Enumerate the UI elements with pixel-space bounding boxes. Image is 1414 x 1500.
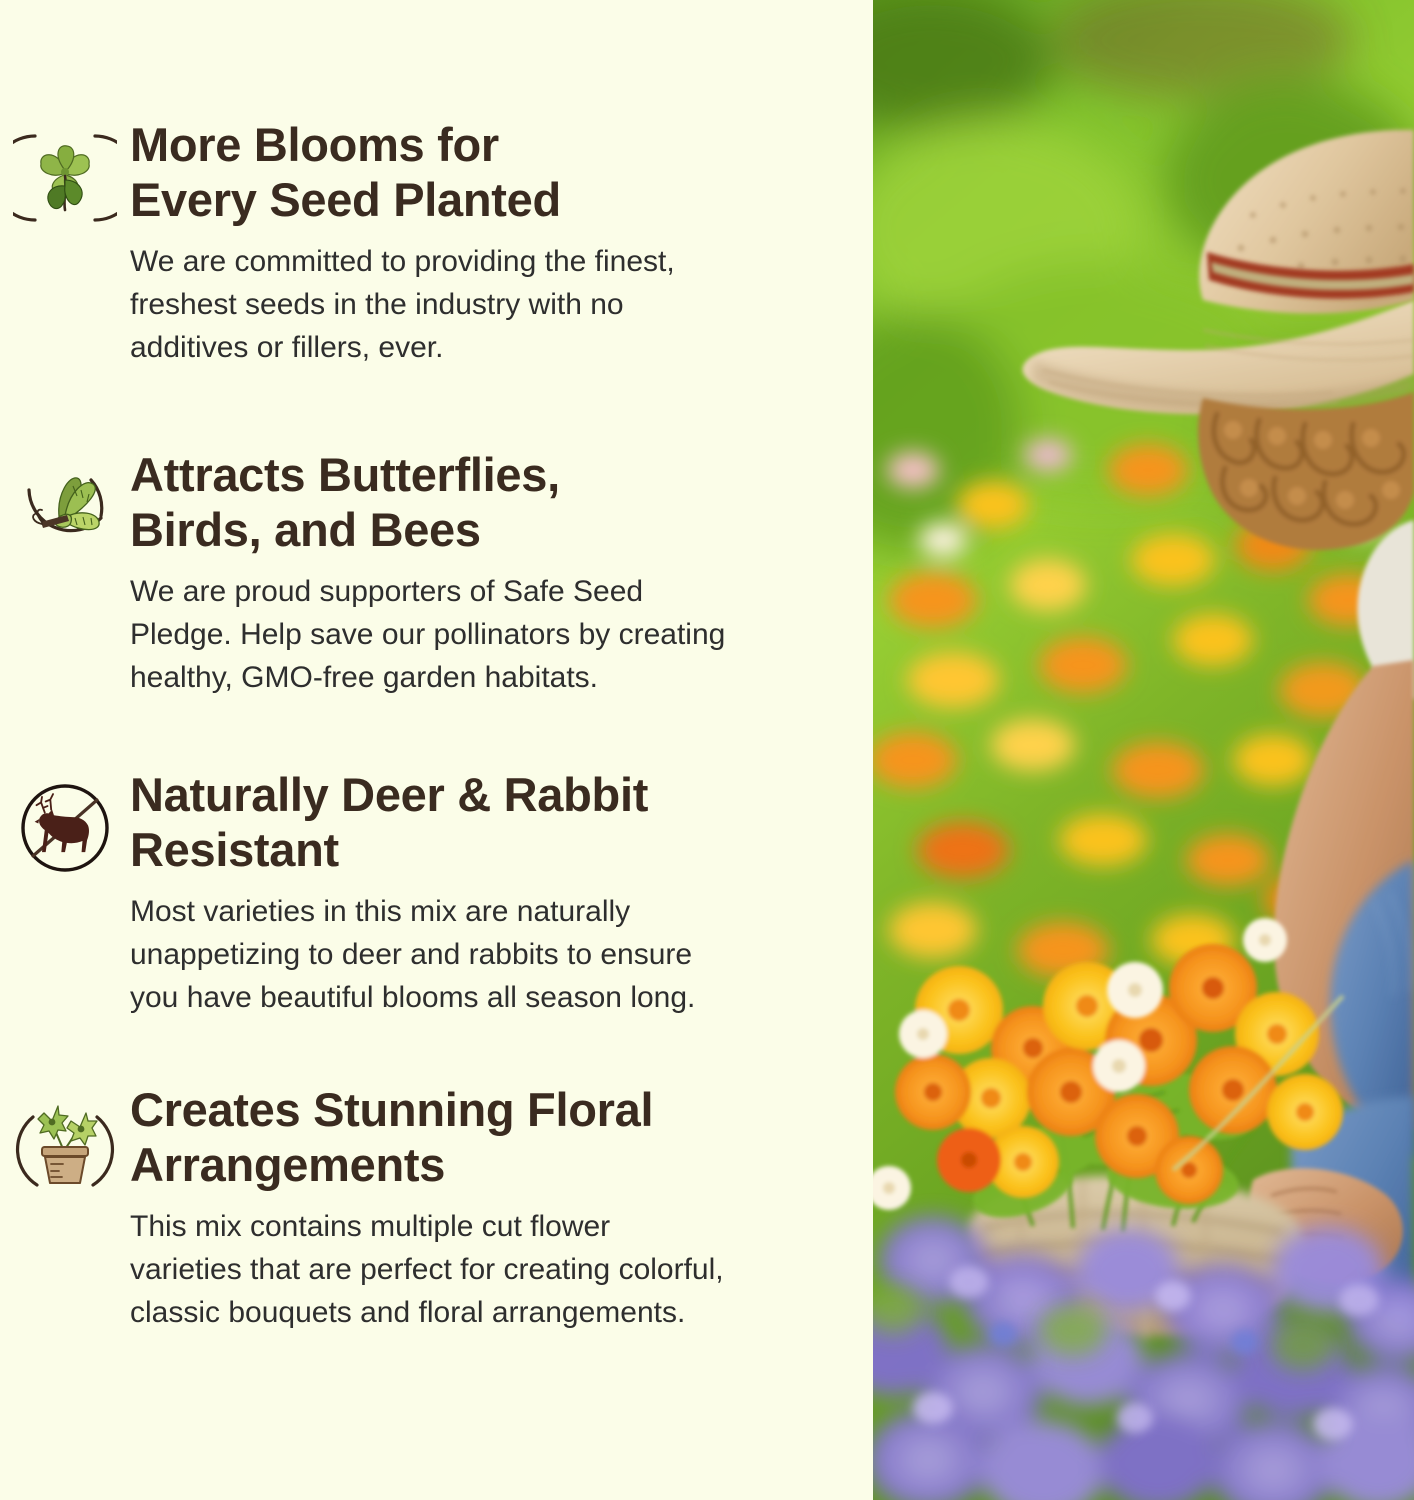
- benefit-text-block: Creates Stunning Floral Arrangements Thi…: [130, 1083, 873, 1335]
- potted-plant-icon: [13, 1091, 117, 1195]
- benefit-text-block: More Blooms for Every Seed Planted We ar…: [130, 118, 873, 370]
- product-benefits-infographic: More Blooms for Every Seed Planted We ar…: [0, 0, 1414, 1500]
- benefit-description: We are proud supporters of Safe Seed Ple…: [130, 570, 847, 700]
- benefit-description: This mix contains multiple cut flower va…: [130, 1205, 847, 1335]
- benefit-item: More Blooms for Every Seed Planted We ar…: [0, 118, 873, 370]
- benefit-item: Attracts Butterflies, Birds, and Bees We…: [0, 448, 873, 700]
- benefit-title: Naturally Deer & Rabbit Resistant: [130, 768, 847, 878]
- benefit-description: We are committed to providing the finest…: [130, 240, 847, 370]
- benefits-panel: More Blooms for Every Seed Planted We ar…: [0, 0, 873, 1500]
- benefit-item: Naturally Deer & Rabbit Resistant Most v…: [0, 768, 873, 1020]
- accent-white-bloom: [1107, 962, 1163, 1018]
- benefit-icon-container: [0, 448, 130, 560]
- benefit-text-block: Naturally Deer & Rabbit Resistant Most v…: [130, 768, 873, 1020]
- benefit-text-block: Attracts Butterflies, Birds, and Bees We…: [130, 448, 873, 700]
- butterfly-icon: [13, 456, 117, 560]
- lifestyle-photo-panel: [873, 0, 1414, 1500]
- benefit-icon-container: [0, 768, 130, 880]
- no-deer-icon: [13, 776, 117, 880]
- benefit-item: Creates Stunning Floral Arrangements Thi…: [0, 1083, 873, 1335]
- woman-gardener-harvesting-poppies-photo: [873, 0, 1414, 1500]
- benefit-icon-container: [0, 1083, 130, 1195]
- benefit-title: Attracts Butterflies, Birds, and Bees: [130, 448, 847, 558]
- foreground-purple-wildflowers: [873, 1216, 1414, 1500]
- benefit-title: More Blooms for Every Seed Planted: [130, 118, 847, 228]
- benefit-description: Most varieties in this mix are naturally…: [130, 890, 847, 1020]
- benefit-icon-container: [0, 118, 130, 230]
- benefit-title: Creates Stunning Floral Arrangements: [130, 1083, 847, 1193]
- flower-sprout-icon: [13, 126, 117, 230]
